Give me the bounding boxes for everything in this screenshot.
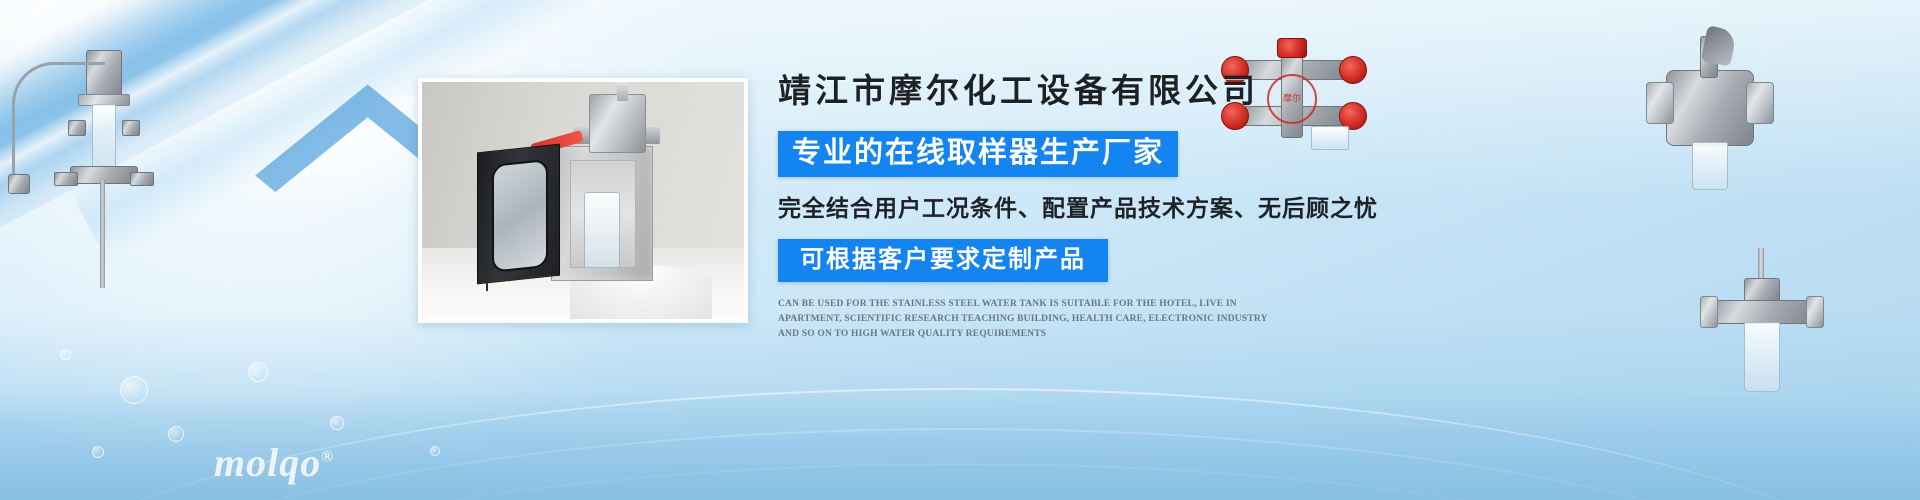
watermark-text: molqo: [214, 440, 321, 485]
subline-text: 完全结合用户工况条件、配置产品技术方案、无后顾之忧: [778, 196, 1518, 221]
headline-highlight-bar: 专业的在线取样器生产厂家: [778, 131, 1178, 177]
company-title: 靖江市摩尔化工设备有限公司: [778, 76, 1518, 109]
equipment-left-valve-assembly: [8, 28, 158, 308]
product-photo: [418, 78, 748, 323]
equipment-lever-valve-block: [1640, 30, 1780, 210]
promo-banner: 摩尔: [0, 0, 1920, 500]
watermark-logo: molqo®: [214, 439, 334, 486]
english-description: CAN BE USED FOR THE STAINLESS STEEL WATE…: [778, 297, 1278, 341]
banner-text-block: 靖江市摩尔化工设备有限公司 专业的在线取样器生产厂家 完全结合用户工况条件、配置…: [778, 76, 1518, 341]
product-photo-image: [422, 82, 744, 319]
equipment-bottom-sampler: [1700, 248, 1830, 408]
registered-mark-icon: ®: [321, 449, 334, 466]
custom-product-cta-button[interactable]: 可根据客户要求定制产品: [778, 239, 1108, 282]
